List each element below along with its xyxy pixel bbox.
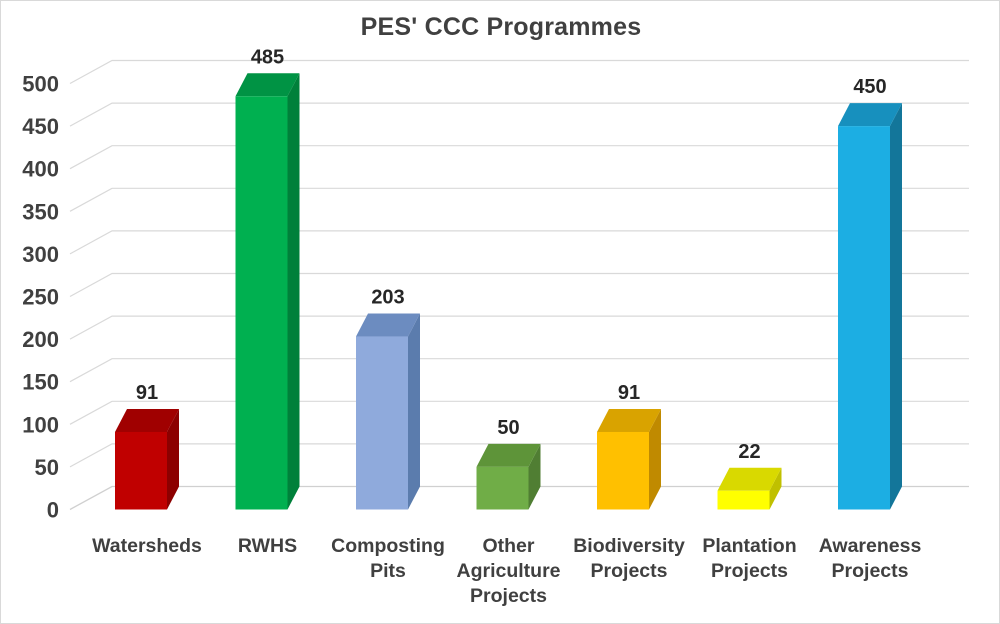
x-axis-category-label-line: Projects <box>711 560 788 582</box>
x-axis-category-label-line: Composting <box>331 535 445 557</box>
y-axis-tick-label: 400 <box>22 157 59 182</box>
bar-3d[interactable] <box>597 409 661 510</box>
y-axis-tick-label: 200 <box>22 327 59 352</box>
y-axis-tick-label: 500 <box>22 72 59 97</box>
bar-front-face <box>718 491 770 510</box>
x-axis-category-label-line: Other <box>482 535 534 557</box>
y-axis-tick-label: 250 <box>22 285 59 310</box>
bar-value-label: 450 <box>853 76 886 98</box>
bar-side-face <box>890 103 902 509</box>
x-axis-category-label: AwarenessProjects <box>819 535 922 582</box>
x-axis-category-label: OtherAgricultureProjects <box>456 535 560 607</box>
gridline <box>70 316 969 339</box>
bar-front-face <box>477 467 529 510</box>
x-axis-category-label-line: Watersheds <box>92 535 202 557</box>
bar-front-face <box>236 96 288 509</box>
x-axis-category-labels: WatershedsRWHSCompostingPitsOtherAgricul… <box>92 535 921 607</box>
y-axis-tick-label: 350 <box>22 199 59 224</box>
bar-3d[interactable] <box>236 73 300 509</box>
y-axis-tick-label: 300 <box>22 242 59 267</box>
bar-3d[interactable] <box>477 444 541 510</box>
x-axis-category-label: PlantationProjects <box>702 535 796 582</box>
bar-value-label: 91 <box>136 382 158 404</box>
gridline <box>70 274 969 297</box>
y-axis-tick-label: 100 <box>22 412 59 437</box>
bar-side-face <box>408 314 420 510</box>
x-axis-category-label: RWHS <box>238 535 297 557</box>
y-axis-tick-label: 450 <box>22 114 59 139</box>
gridline <box>70 188 969 211</box>
x-axis-category-label-line: Awareness <box>819 535 922 557</box>
bar-3d[interactable] <box>356 314 420 510</box>
bar-3d[interactable] <box>838 103 902 509</box>
chart-plot-area: 050100150200250300350400450500 914852035… <box>1 1 1000 624</box>
x-axis-category-label-line: Biodiversity <box>573 535 685 557</box>
bar-3d[interactable] <box>718 468 782 510</box>
bar-front-face <box>115 432 167 510</box>
y-axis-tick-labels: 050100150200250300350400450500 <box>22 72 59 523</box>
x-axis-category-label: Watersheds <box>92 535 202 557</box>
bar-front-face <box>597 432 649 510</box>
x-axis-category-label-line: Projects <box>832 560 909 582</box>
bar-value-label: 22 <box>738 441 760 463</box>
x-axis-category-label-line: Agriculture <box>456 560 560 582</box>
gridline <box>70 231 969 254</box>
gridline <box>70 61 969 84</box>
x-axis-category-label: CompostingPits <box>331 535 445 582</box>
gridline <box>70 359 969 382</box>
x-axis-category-label-line: Projects <box>470 585 547 607</box>
bar-value-label: 50 <box>497 417 519 439</box>
y-axis-tick-label: 0 <box>47 498 59 523</box>
x-axis-category-label-line: Plantation <box>702 535 796 557</box>
bar-value-label: 485 <box>251 46 284 68</box>
y-axis-tick-label: 50 <box>35 455 59 480</box>
chart-container: PES' CCC Programmes 05010015020025030035… <box>0 0 1000 624</box>
bar-front-face <box>356 337 408 510</box>
bar-front-face <box>838 126 890 509</box>
bar-value-label: 203 <box>371 287 404 309</box>
x-axis-category-label-line: RWHS <box>238 535 297 557</box>
bar-value-label: 91 <box>618 382 640 404</box>
x-axis-category-label-line: Pits <box>370 560 406 582</box>
x-axis-category-label-line: Projects <box>591 560 668 582</box>
x-axis-category-label: BiodiversityProjects <box>573 535 685 582</box>
gridline <box>70 146 969 169</box>
y-axis-tick-label: 150 <box>22 370 59 395</box>
bar-3d[interactable] <box>115 409 179 510</box>
bar-side-face <box>288 73 300 509</box>
gridlines <box>70 61 969 510</box>
gridline <box>70 103 969 126</box>
